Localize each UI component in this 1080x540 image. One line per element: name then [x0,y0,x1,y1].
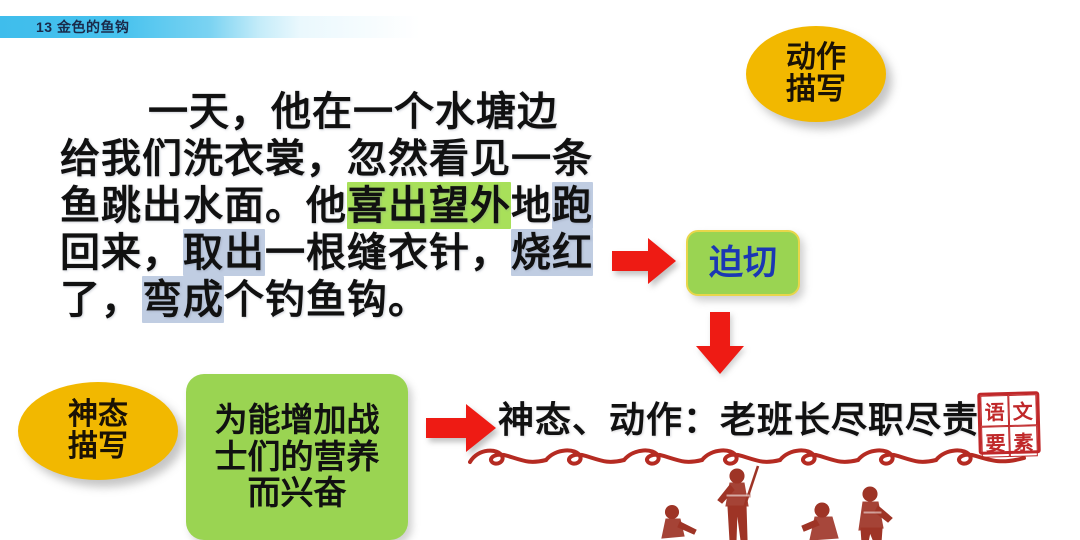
highlight-blue-wancheng: 弯成 [142,276,224,323]
soldiers-marching-illustration [640,464,930,540]
passage-seg: 给我们洗衣裳，忽然看见一条 [60,136,593,181]
passage-seg: 鱼跳出水面。他 [60,183,347,228]
passage-seg: 个钓鱼钩。 [224,277,429,322]
callout-action-line1: 动作 [786,42,846,74]
keyword-box-nutrition: 为能增加战 士们的营养 而兴奋 [186,374,408,540]
passage-seg: 回来， [60,230,183,275]
callout-expression-description: 神态 描写 [18,382,178,480]
highlight-blue-shaohong: 烧红 [511,229,593,276]
passage-seg: 一天，他在一个水塘边 [148,89,558,134]
passage-line-1: 一天，他在一个水塘边 [60,88,620,135]
seal-cell-yu: 语 [980,395,1009,427]
keyword-box-urgent-label: 迫切 [709,244,777,282]
passage-line-3: 鱼跳出水面。他喜出望外地跑 [60,182,620,229]
keyword-box-nutrition-line1: 为能增加战 [215,402,380,439]
passage-text: 一天，他在一个水塘边 给我们洗衣裳，忽然看见一条 鱼跳出水面。他喜出望外地跑 回… [60,88,620,323]
red-right-arrow-icon [612,238,676,284]
callout-action-description: 动作 描写 [746,26,886,122]
page-title: 13 金色的鱼钩 [36,16,129,38]
passage-seg: 一根缝衣针， [265,230,511,275]
callout-expression-line1: 神态 [68,399,128,431]
passage-seg: 地 [511,183,552,228]
highlight-blue-pao: 跑 [552,182,593,229]
passage-line-2: 给我们洗衣裳，忽然看见一条 [60,135,620,182]
keyword-box-urgent: 迫切 [686,230,800,296]
highlight-green-xichuwangwai: 喜出望外 [347,182,511,229]
callout-expression-line2: 描写 [68,431,128,463]
keyword-box-nutrition-line2: 士们的营养 [215,439,380,476]
callout-action-line2: 描写 [786,74,846,106]
keyword-box-nutrition-line3: 而兴奋 [248,475,347,512]
red-down-arrow-icon [696,312,744,374]
passage-seg: 了， [60,277,142,322]
seal-cell-wen: 文 [1008,394,1037,426]
summary-conclusion-text: 神态、动作：老班长尽职尽责 [498,398,979,442]
highlight-blue-quchu: 取出 [183,229,265,276]
red-right-arrow-summary-icon [426,404,496,452]
passage-line-4: 回来，取出一根缝衣针，烧红 [60,229,620,276]
passage-line-5: 了，弯成个钓鱼钩。 [60,276,620,323]
slide-canvas: 13 金色的鱼钩 一天，他在一个水塘边 给我们洗衣裳，忽然看见一条 鱼跳出水面。… [0,0,1080,540]
